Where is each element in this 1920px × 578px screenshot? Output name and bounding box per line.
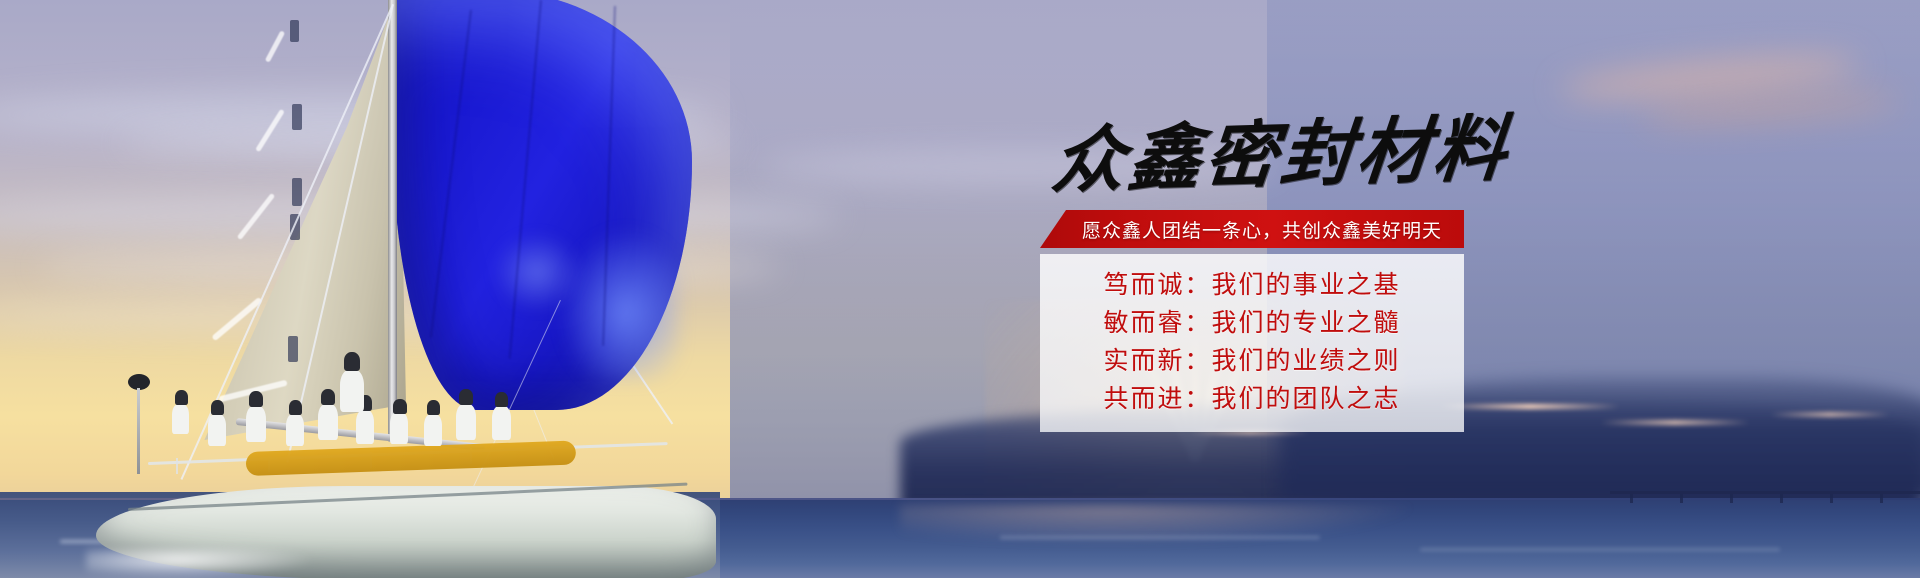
crew-head (495, 392, 508, 407)
crew-member-standing (420, 382, 434, 452)
sail-batten-stripe (255, 109, 285, 152)
bridge-pier (1630, 494, 1633, 503)
sail-slide (292, 178, 302, 206)
sail-batten-stripe (237, 193, 275, 240)
crew-member (456, 404, 476, 440)
wave-crest (1420, 548, 1780, 551)
cloud-edge-highlight (1770, 412, 1890, 417)
sail-slide (292, 104, 302, 130)
crew-member (390, 412, 408, 444)
sea-sun-reflection (900, 505, 1420, 545)
crew-member (340, 370, 364, 412)
slogan-text: 愿众鑫人团结一条心，共创众鑫美好明天 (1082, 216, 1442, 243)
motto-line-2: 敏而睿：我们的专业之髓 (1040, 304, 1464, 342)
spinnaker-highlight (492, 232, 582, 312)
crew-member (246, 406, 266, 442)
motto-panel: 笃而诚：我们的事业之基 敏而睿：我们的专业之髓 实而新：我们的业绩之则 共而进：… (1040, 254, 1464, 432)
slogan-bar: 愿众鑫人团结一条心，共创众鑫美好明天 (1040, 210, 1464, 248)
company-title-calligraphy: 众鑫密封材料 (1049, 114, 1477, 198)
crew-head (249, 391, 263, 407)
sailboat (0, 0, 760, 578)
bridge-pier (1780, 494, 1783, 503)
motto-line-4: 共而进：我们的团队之志 (1040, 380, 1464, 418)
instrument-pole (137, 388, 140, 474)
crew-member (286, 414, 304, 446)
motto-line-3: 实而新：我们的业绩之则 (1040, 342, 1464, 380)
crew-head (321, 389, 335, 405)
bridge-deck (1610, 491, 1920, 494)
crew-member (172, 404, 189, 434)
crew-head (344, 352, 360, 371)
sail-batten-stripe (265, 30, 285, 62)
motto-line-1: 笃而诚：我们的事业之基 (1040, 266, 1464, 304)
mast (388, 0, 397, 442)
wave-crest (1000, 536, 1320, 539)
hero-banner: 众鑫密封材料 愿众鑫人团结一条心，共创众鑫美好明天 笃而诚：我们的事业之基 敏而… (0, 0, 1920, 578)
banner-text-block: 众鑫密封材料 愿众鑫人团结一条心，共创众鑫美好明天 笃而诚：我们的事业之基 敏而… (1043, 120, 1473, 432)
crew-head (211, 400, 224, 415)
crew-head (393, 399, 407, 414)
bridge-silhouette (1610, 487, 1920, 501)
crew-member (318, 404, 338, 440)
crew-member (356, 410, 374, 444)
bridge-pier (1730, 494, 1733, 503)
bridge-pier (1830, 494, 1833, 503)
sail-slide (290, 20, 299, 42)
crew-member (208, 414, 226, 446)
bow-spray (86, 548, 316, 578)
sail-slide (288, 336, 298, 362)
crew-head (289, 400, 302, 415)
bridge-pier (1880, 494, 1883, 503)
crew-head (175, 390, 188, 405)
bridge-pier (1680, 494, 1683, 503)
crew-head (459, 389, 473, 405)
cloud-edge-highlight (1600, 420, 1750, 425)
crew-member (492, 406, 511, 440)
rail-stanchion (176, 458, 178, 474)
